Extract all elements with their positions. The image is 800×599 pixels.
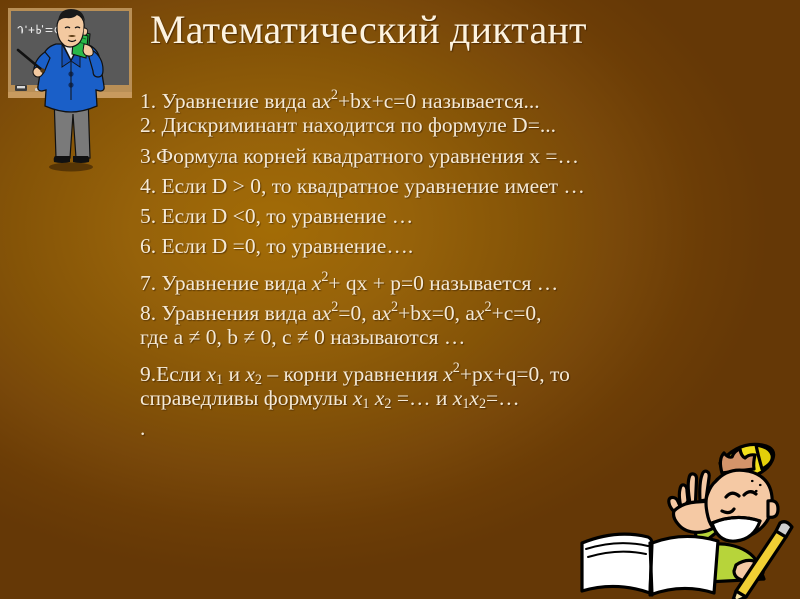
boy-head (706, 470, 778, 541)
list-item: 9.Если x1 и x2 – корни уравнения x2+px+q… (140, 353, 790, 383)
dictation-question-list: 1. Уравнение вида ax2+bx+c=0 называется.… (140, 80, 790, 444)
page-title: Математический диктант (150, 2, 790, 58)
list-item: 5. Если D <0, то уравнение … (140, 201, 790, 231)
teacher-illustration (0, 0, 140, 172)
list-item: 1. Уравнение вида ax2+bx+c=0 называется.… (140, 80, 790, 110)
list-item: 3.Формула корней квадратного уравнения x… (140, 141, 790, 171)
slide-canvas: Математический диктант 1. Уравнение вида… (0, 0, 800, 599)
list-item: 7. Уравнение вида x2+ qx + p=0 называетс… (140, 262, 790, 292)
list-item: 2. Дискриминант находится по формуле D=.… (140, 110, 790, 140)
list-item: справедливы формулы x1 x2 =… и x1x2=… (140, 383, 790, 413)
cheering-boy-illustration (570, 419, 800, 599)
list-item: 4. Если D > 0, то квадратное уравнение и… (140, 171, 790, 201)
list-item: 8. Уравнения вида ax2=0, ax2+bx=0, ax2+c… (140, 292, 790, 322)
list-item: где a ≠ 0, b ≠ 0, c ≠ 0 называются … (140, 322, 790, 352)
list-item: 6. Если D =0, то уравнение…. (140, 231, 790, 261)
